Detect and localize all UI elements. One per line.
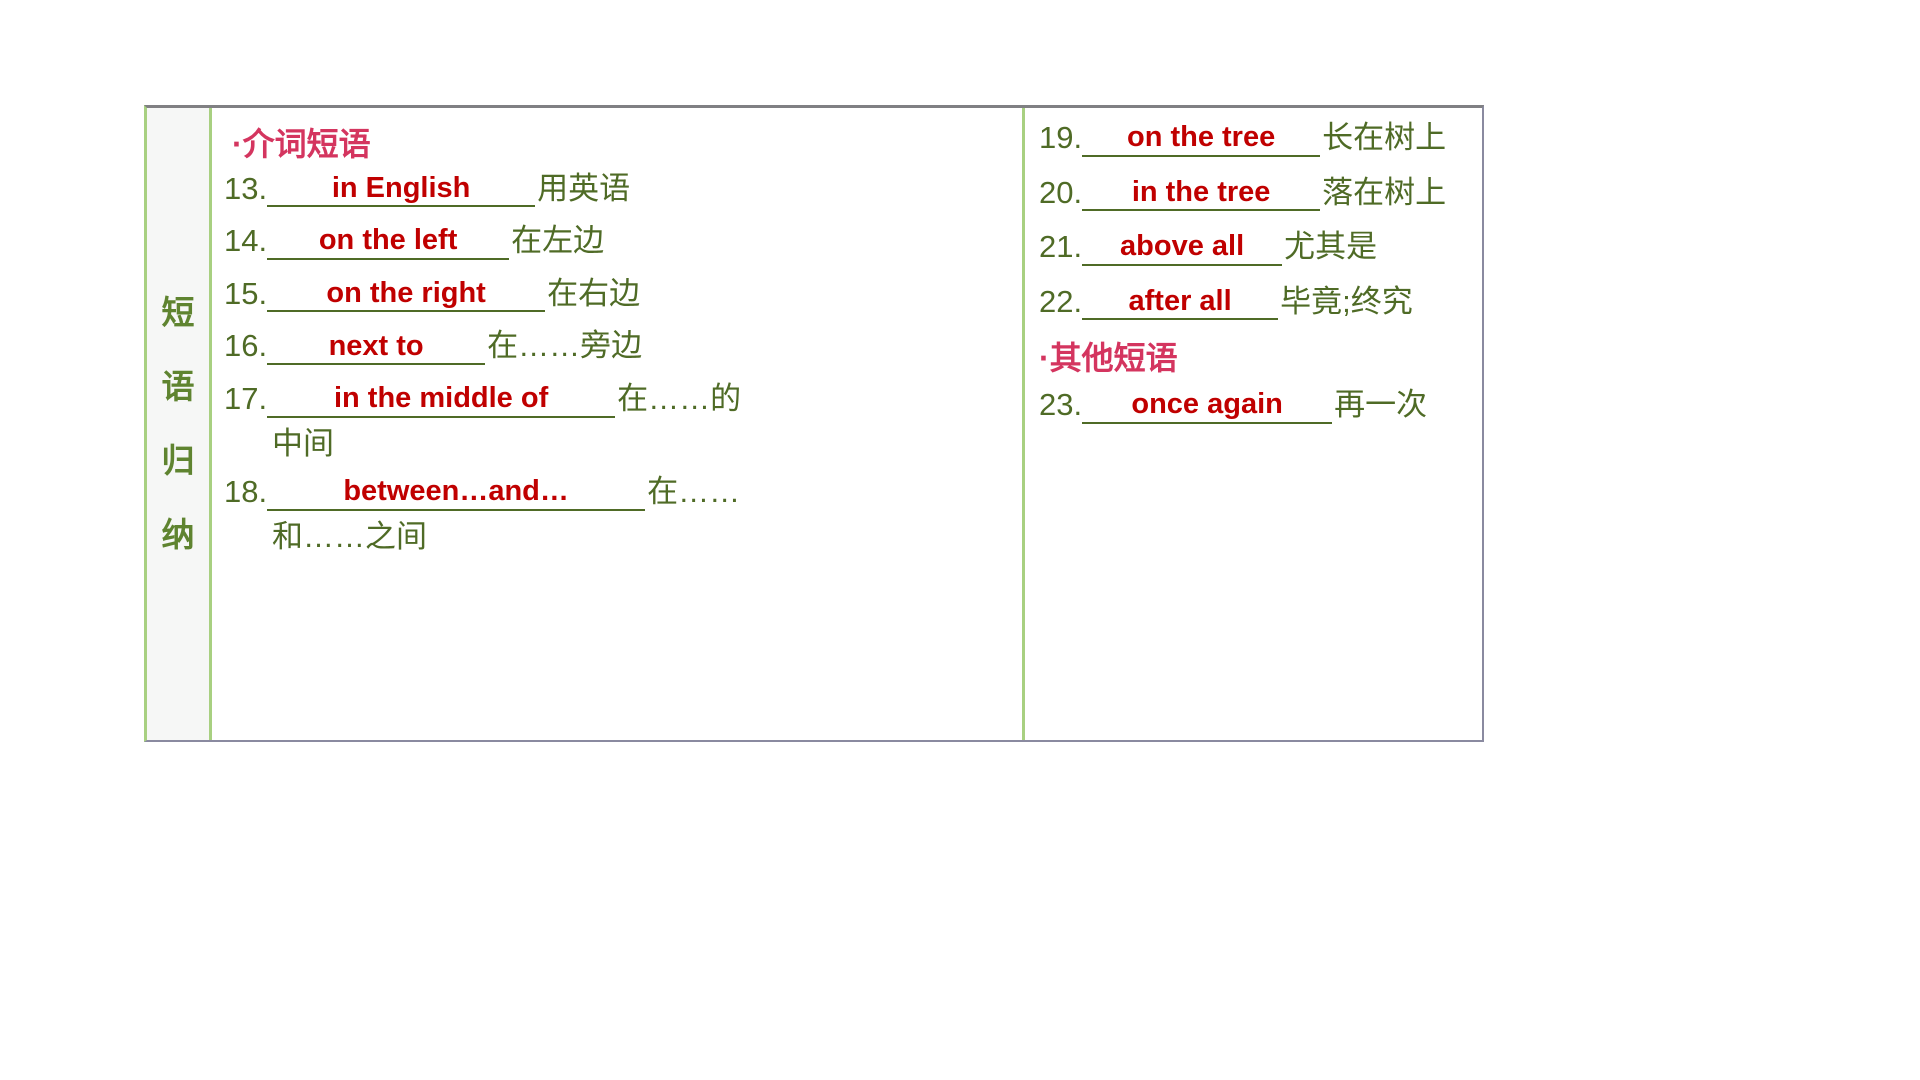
- answer-blank[interactable]: on the left: [267, 225, 509, 259]
- item-gloss: 落在树上: [1322, 177, 1446, 212]
- phrase-item-22: 22. after all 毕竟;终究: [1039, 286, 1482, 321]
- item-gloss: 在……的: [617, 383, 741, 418]
- phrase-item-21: 21. above all 尤其是: [1039, 231, 1482, 266]
- section-heading-prepositional-phrases: ·介词短语: [232, 126, 1022, 163]
- answer-blank[interactable]: above all: [1082, 231, 1282, 265]
- answer-blank[interactable]: once again: [1082, 389, 1332, 423]
- answer-blank[interactable]: in the middle of: [267, 383, 615, 417]
- item-number: 17.: [224, 383, 267, 418]
- phrase-item-23: 23. once again 再一次: [1039, 389, 1482, 424]
- right-content-column: 19. on the tree 长在树上 20. in the tree 落在树…: [1025, 108, 1482, 740]
- sidebar-label-char-4: 纳: [162, 498, 195, 572]
- item-number: 16.: [224, 330, 267, 365]
- item-number: 20.: [1039, 177, 1082, 212]
- answer-blank[interactable]: on the tree: [1082, 122, 1320, 156]
- item-gloss: 在……旁边: [487, 330, 642, 365]
- answer-blank[interactable]: on the right: [267, 278, 545, 312]
- sidebar-label-char-2: 语: [162, 350, 195, 424]
- answer-blank[interactable]: in English: [267, 173, 535, 207]
- phrase-item-14: 14. on the left 在左边: [224, 225, 1022, 260]
- left-content-column: ·介词短语 13. in English 用英语 14. on the left…: [212, 108, 1025, 740]
- item-number: 19.: [1039, 122, 1082, 157]
- item-number: 21.: [1039, 231, 1082, 266]
- answer-blank[interactable]: between…and…: [267, 476, 645, 510]
- section-heading-other-phrases: ·其他短语: [1039, 340, 1482, 377]
- phrase-item-20: 20. in the tree 落在树上: [1039, 177, 1482, 212]
- item-gloss-wrap-18: 和……之间: [272, 521, 1022, 554]
- phrase-item-18: 18. between…and… 在……: [224, 476, 1022, 511]
- phrase-summary-table: 短 语 归 纳 ·介词短语 13. in English 用英语 14. on …: [144, 105, 1484, 742]
- item-number: 13.: [224, 173, 267, 208]
- item-gloss: 毕竟;终究: [1280, 286, 1413, 321]
- answer-blank[interactable]: in the tree: [1082, 177, 1320, 211]
- item-number: 14.: [224, 225, 267, 260]
- item-gloss: 长在树上: [1322, 122, 1446, 157]
- item-gloss-wrap-17: 中间: [272, 428, 1022, 461]
- phrase-item-16: 16. next to 在……旁边: [224, 330, 1022, 365]
- item-gloss: 再一次: [1334, 389, 1427, 424]
- answer-blank[interactable]: after all: [1082, 286, 1278, 320]
- page-root: 短 语 归 纳 ·介词短语 13. in English 用英语 14. on …: [0, 0, 1920, 1080]
- sidebar-vertical-label: 短 语 归 纳: [162, 276, 195, 572]
- item-number: 15.: [224, 278, 267, 313]
- phrase-item-13: 13. in English 用英语: [224, 173, 1022, 208]
- item-gloss: 在……: [647, 476, 740, 511]
- item-gloss: 在左边: [511, 225, 604, 260]
- item-gloss: 尤其是: [1284, 231, 1377, 266]
- sidebar-label-char-3: 归: [162, 424, 195, 498]
- phrase-item-15: 15. on the right 在右边: [224, 278, 1022, 313]
- item-number: 22.: [1039, 286, 1082, 321]
- item-number: 23.: [1039, 389, 1082, 424]
- sidebar-label-char-1: 短: [162, 276, 195, 350]
- sidebar-label-cell: 短 语 归 纳: [147, 108, 212, 740]
- phrase-item-19: 19. on the tree 长在树上: [1039, 122, 1482, 157]
- item-gloss: 在右边: [547, 278, 640, 313]
- item-gloss: 用英语: [537, 173, 630, 208]
- item-number: 18.: [224, 476, 267, 511]
- answer-blank[interactable]: next to: [267, 331, 485, 365]
- phrase-item-17: 17. in the middle of 在……的: [224, 383, 1022, 418]
